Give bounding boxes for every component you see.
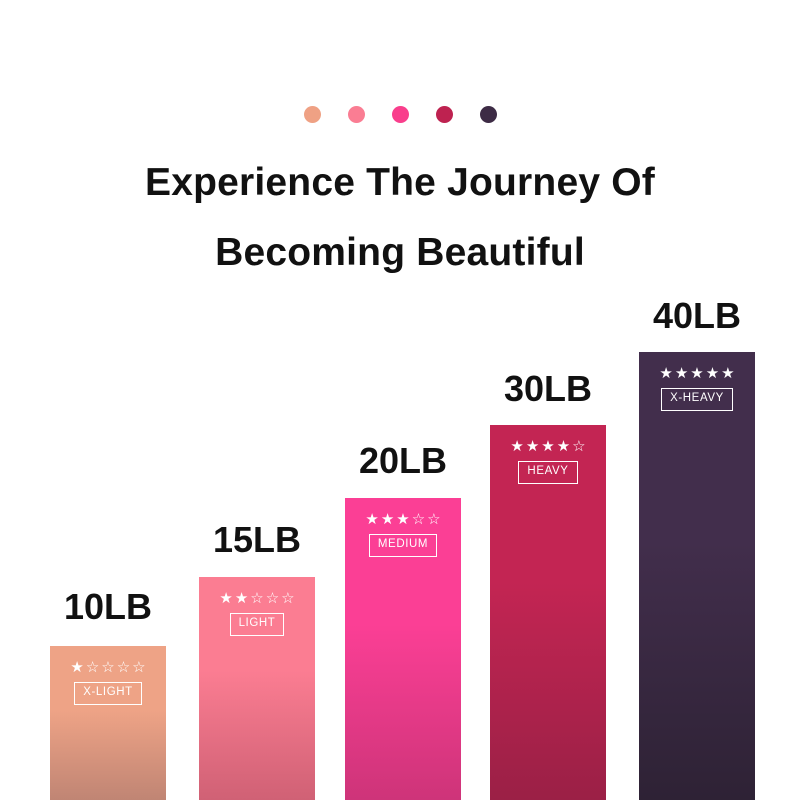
star-rating: ★☆☆☆☆ — [70, 660, 145, 675]
bar-group[interactable]: 10LB★☆☆☆☆X-LIGHT — [50, 589, 166, 800]
bar-content: ★☆☆☆☆X-LIGHT — [50, 660, 166, 705]
star-filled-icon: ★ — [659, 366, 672, 381]
resistance-bar[interactable]: ★☆☆☆☆X-LIGHT — [50, 646, 166, 800]
star-filled-icon: ★ — [381, 512, 394, 527]
star-filled-icon: ★ — [219, 591, 232, 606]
star-rating: ★★☆☆☆ — [219, 591, 294, 606]
star-empty-icon: ☆ — [250, 591, 263, 606]
star-empty-icon: ☆ — [266, 591, 279, 606]
star-empty-icon: ☆ — [412, 512, 425, 527]
bar-group[interactable]: 30LB★★★★☆HEAVY — [490, 371, 606, 800]
star-filled-icon: ★ — [690, 366, 703, 381]
star-empty-icon: ☆ — [117, 660, 130, 675]
bar-content: ★★☆☆☆LIGHT — [199, 591, 315, 636]
star-filled-icon: ★ — [70, 660, 83, 675]
bar-value-label: 20LB — [359, 443, 447, 479]
star-empty-icon: ☆ — [86, 660, 99, 675]
star-filled-icon: ★ — [526, 439, 539, 454]
star-filled-icon: ★ — [721, 366, 734, 381]
star-filled-icon: ★ — [365, 512, 378, 527]
bar-value-label: 30LB — [504, 371, 592, 407]
bar-group[interactable]: 20LB★★★☆☆MEDIUM — [345, 443, 461, 800]
bar-content: ★★★★☆HEAVY — [490, 439, 606, 484]
bar-value-label: 15LB — [213, 522, 301, 558]
resistance-level-badge: MEDIUM — [369, 534, 437, 557]
star-filled-icon: ★ — [706, 366, 719, 381]
bar-content: ★★★★★X-HEAVY — [639, 366, 755, 411]
bar-value-label: 10LB — [64, 589, 152, 625]
star-empty-icon: ☆ — [427, 512, 440, 527]
bar-content: ★★★☆☆MEDIUM — [345, 512, 461, 557]
star-rating: ★★★★☆ — [510, 439, 585, 454]
resistance-level-badge: X-HEAVY — [661, 388, 733, 411]
resistance-bar[interactable]: ★★★☆☆MEDIUM — [345, 498, 461, 800]
star-filled-icon: ★ — [510, 439, 523, 454]
resistance-bar[interactable]: ★★★★☆HEAVY — [490, 425, 606, 800]
star-empty-icon: ☆ — [101, 660, 114, 675]
product-infographic: Experience The Journey Of Becoming Beaut… — [0, 0, 800, 800]
star-empty-icon: ☆ — [281, 591, 294, 606]
star-filled-icon: ★ — [235, 591, 248, 606]
star-filled-icon: ★ — [557, 439, 570, 454]
star-empty-icon: ☆ — [572, 439, 585, 454]
bar-group[interactable]: 40LB★★★★★X-HEAVY — [639, 298, 755, 800]
star-filled-icon: ★ — [675, 366, 688, 381]
resistance-bar[interactable]: ★★★★★X-HEAVY — [639, 352, 755, 800]
bar-value-label: 40LB — [653, 298, 741, 334]
star-filled-icon: ★ — [541, 439, 554, 454]
star-rating: ★★★★★ — [659, 366, 734, 381]
star-rating: ★★★☆☆ — [365, 512, 440, 527]
star-filled-icon: ★ — [396, 512, 409, 527]
resistance-bar-chart: 10LB★☆☆☆☆X-LIGHT15LB★★☆☆☆LIGHT20LB★★★☆☆M… — [0, 0, 800, 800]
resistance-level-badge: X-LIGHT — [74, 682, 142, 705]
resistance-level-badge: LIGHT — [230, 613, 285, 636]
bar-group[interactable]: 15LB★★☆☆☆LIGHT — [199, 522, 315, 800]
star-empty-icon: ☆ — [132, 660, 145, 675]
resistance-level-badge: HEAVY — [518, 461, 577, 484]
resistance-bar[interactable]: ★★☆☆☆LIGHT — [199, 577, 315, 800]
